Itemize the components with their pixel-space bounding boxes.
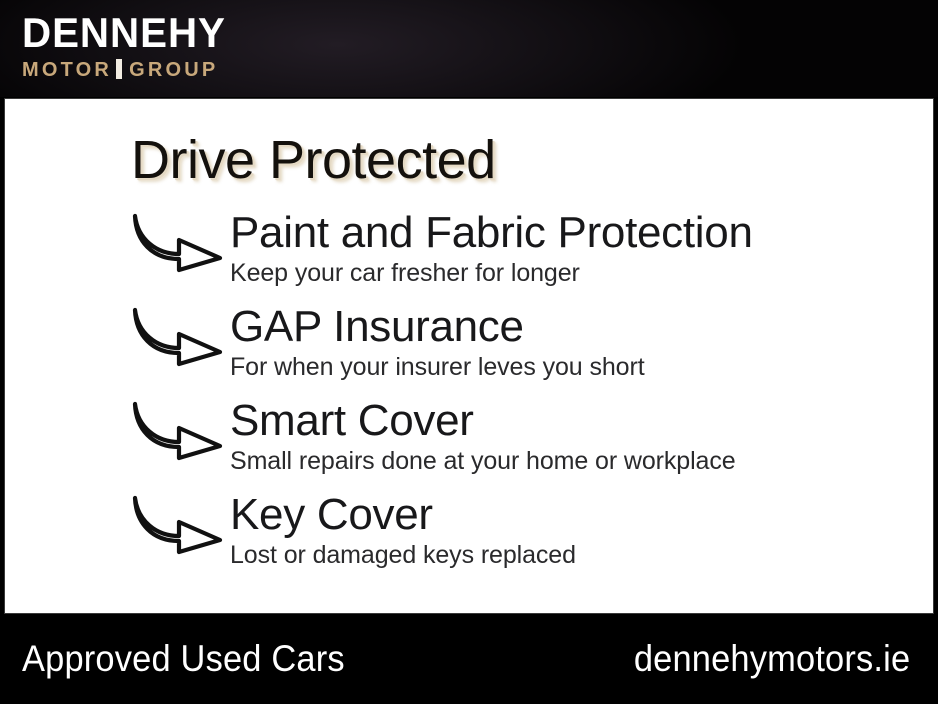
footer-bar: Approved Used Cars dennehymotors.ie [0,616,938,704]
brand-tagline: MOTORGROUP [22,59,322,81]
list-item-title: Paint and Fabric Protection [230,207,920,259]
list-item-subtitle: Small repairs done at your home or workp… [230,446,920,476]
content-panel: Drive Protected Paint and Fabric Protect… [4,98,934,614]
list-item-title: Smart Cover [230,395,920,447]
list-item-title: GAP Insurance [230,301,920,353]
list-item-subtitle: For when your insurer leves you short [230,352,920,382]
curved-arrow-icon [132,213,224,271]
brand-tagline-right: GROUP [129,59,218,81]
footer-website-url[interactable]: dennehymotors.ie [633,634,910,684]
advert-banner: DENNEHY MOTORGROUP Drive Protected Paint… [0,0,938,704]
brand-logo[interactable]: DENNEHY MOTORGROUP [22,12,322,81]
brand-name: DENNEHY [22,12,310,54]
list-item-text: GAP Insurance For when your insurer leve… [230,301,920,382]
list-item-text: Smart Cover Small repairs done at your h… [230,395,920,476]
list-item: GAP Insurance For when your insurer leve… [5,301,934,395]
list-item: Paint and Fabric Protection Keep your ca… [5,207,934,301]
benefit-list: Paint and Fabric Protection Keep your ca… [5,207,934,583]
divider-bar-icon [116,59,122,79]
list-item-text: Paint and Fabric Protection Keep your ca… [230,207,920,288]
list-item-subtitle: Lost or damaged keys replaced [230,540,920,570]
page-title: Drive Protected [131,131,496,189]
curved-arrow-icon [132,307,224,365]
curved-arrow-icon [132,495,224,553]
list-item: Key Cover Lost or damaged keys replaced [5,489,934,583]
footer-approved-used-cars: Approved Used Cars [22,634,345,684]
brand-header: DENNEHY MOTORGROUP [0,0,938,97]
brand-tagline-left: MOTOR [22,59,112,81]
list-item-text: Key Cover Lost or damaged keys replaced [230,489,920,570]
list-item: Smart Cover Small repairs done at your h… [5,395,934,489]
curved-arrow-icon [132,401,224,459]
list-item-subtitle: Keep your car fresher for longer [230,258,920,288]
list-item-title: Key Cover [230,489,920,541]
